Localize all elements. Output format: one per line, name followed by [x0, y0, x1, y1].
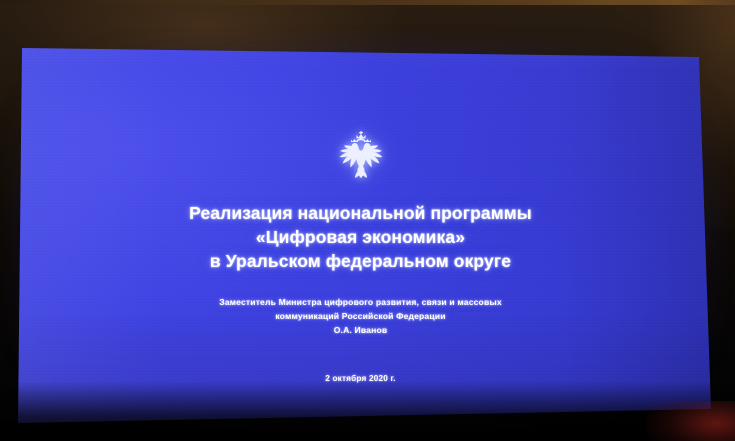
- photo-scene: Реализация национальной программы «Цифро…: [0, 0, 735, 441]
- slide-author-line-2: коммуникаций Российской Федерации: [219, 310, 502, 324]
- slide-author: Заместитель Министра цифрового развития,…: [219, 296, 502, 338]
- slide-title: Реализация национальной программы «Цифро…: [189, 202, 532, 274]
- projection-screen: Реализация национальной программы «Цифро…: [0, 0, 735, 441]
- slide-title-line-1: Реализация национальной программы: [189, 202, 532, 226]
- wall-red-glow: [647, 401, 735, 441]
- slide-content: Реализация национальной программы «Цифро…: [22, 48, 699, 413]
- slide-title-line-3: в Уральском федеральном округе: [189, 250, 532, 274]
- slide-author-line-1: Заместитель Министра цифрового развития,…: [219, 296, 502, 310]
- slide-title-line-2: «Цифровая экономика»: [189, 226, 532, 250]
- room-floor-shadow: [0, 381, 735, 441]
- slide-author-name: О.А. Иванов: [219, 324, 502, 338]
- russian-coat-of-arms-icon: [329, 131, 393, 181]
